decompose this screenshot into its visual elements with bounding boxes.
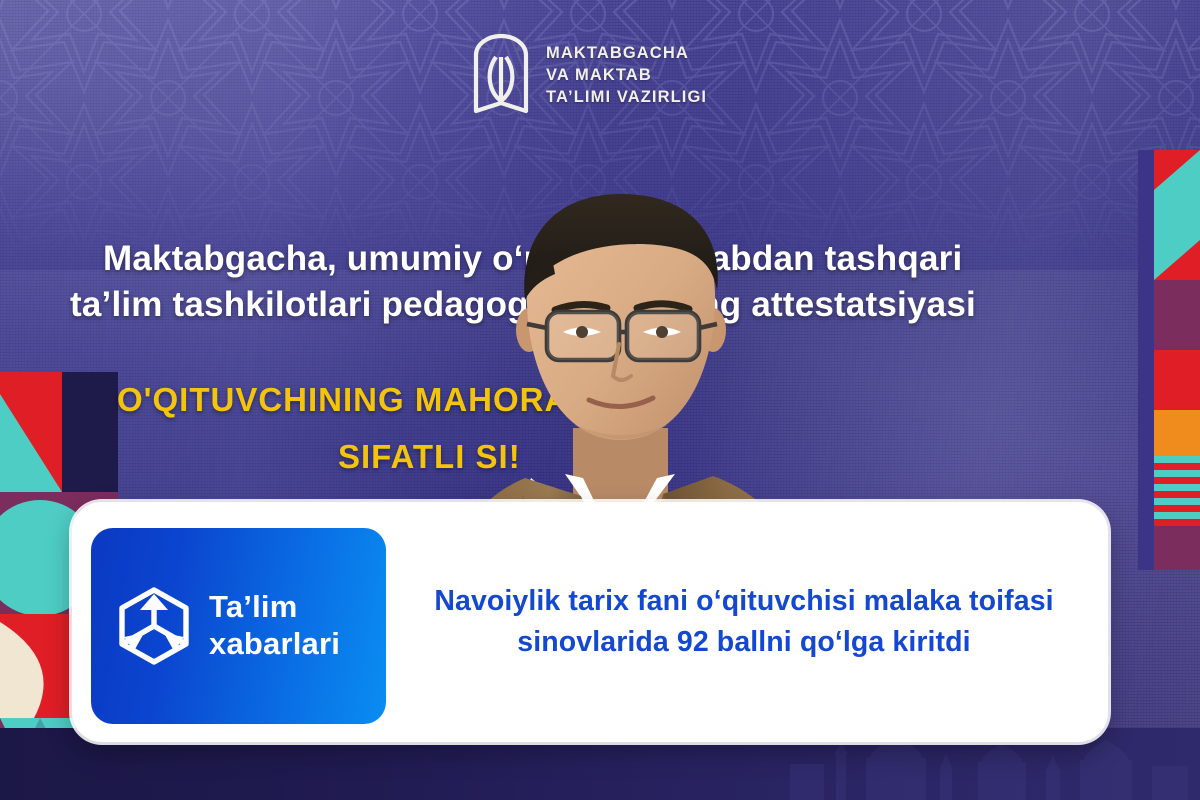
- badge-label: Ta’lim xabarlari: [209, 589, 340, 662]
- ministry-logo: MAKTABGACHA VA MAKTAB TA’LIMI VAZIRLIGI: [470, 33, 707, 119]
- open-book-leaf-icon: [470, 33, 532, 119]
- ministry-line-1: MAKTABGACHA: [546, 43, 707, 65]
- badge-label-line-1: Ta’lim: [209, 589, 340, 626]
- ministry-logo-text: MAKTABGACHA VA MAKTAB TA’LIMI VAZIRLIGI: [546, 43, 707, 109]
- talim-xabarlari-badge[interactable]: Ta’lim xabarlari: [91, 528, 386, 724]
- news-card-image: MAKTABGACHA VA MAKTAB TA’LIMI VAZIRLIGI …: [0, 0, 1200, 800]
- badge-label-line-2: xabarlari: [209, 626, 340, 663]
- headline-container: Navoiylik tarix fani o‘qituvchisi malaka…: [405, 505, 1083, 739]
- hexagon-cube-arrows-icon: [113, 585, 195, 667]
- caption-card: Ta’lim xabarlari Navoiylik tarix fani o‘…: [72, 502, 1108, 742]
- ministry-line-2: VA MAKTAB: [546, 65, 707, 87]
- news-headline: Navoiylik tarix fani o‘qituvchisi malaka…: [405, 581, 1083, 664]
- ministry-line-3: TA’LIMI VAZIRLIGI: [546, 87, 707, 109]
- right-geometric-mosaic: [1138, 150, 1200, 570]
